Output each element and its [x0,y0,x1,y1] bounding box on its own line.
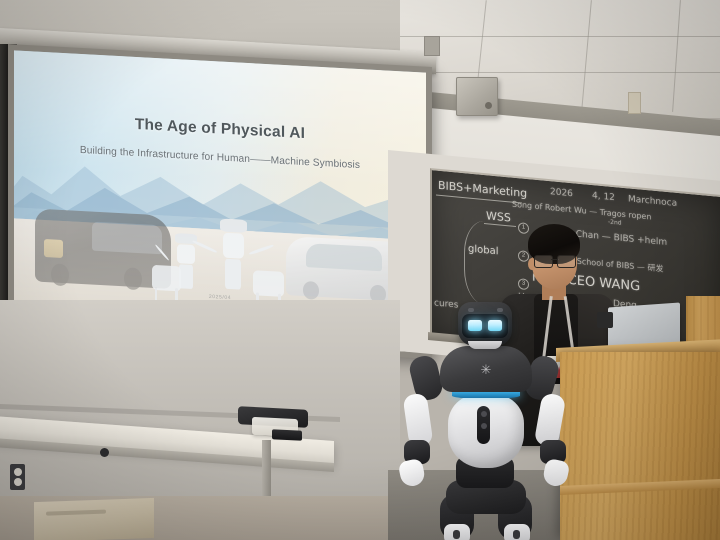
chalk-line-2: 4, 12 [592,191,615,203]
glasses-lens-left [534,255,553,268]
humanoid-robot: ✳ [398,298,604,540]
robot-sensor-left [468,308,474,312]
wall-knob [100,448,109,457]
chalk-line-4: Song of Robert Wu — Tragos ropen [512,200,651,222]
robot-eye-right [488,320,502,331]
glasses-lens-right [557,255,576,268]
robot-chest-port [477,406,490,444]
wall-plate [628,92,641,114]
remote-device [272,429,302,441]
robot-shin-right [504,524,530,540]
screenshot-root: The Age of Physical AI Building the Infr… [0,0,720,540]
robot-emblem-icon: ✳ [478,362,494,378]
robot-sensor-right [497,308,503,312]
chalk-line-3: Marchnoca [628,194,677,209]
cardboard-box [34,498,154,540]
chalk-underline-1 [436,195,522,204]
glasses-icon [534,255,576,266]
robot-hand-right [542,458,571,488]
robot-shin-left [444,524,470,540]
wall-speaker-icon [456,77,498,116]
chalk-line-1: 2026 [550,187,573,199]
screen-roller-cap [424,36,440,56]
robot-chin-plate [468,341,502,349]
power-outlet-icon [10,464,25,490]
robot-eye-left [468,320,482,331]
chalk-curve [464,219,499,306]
